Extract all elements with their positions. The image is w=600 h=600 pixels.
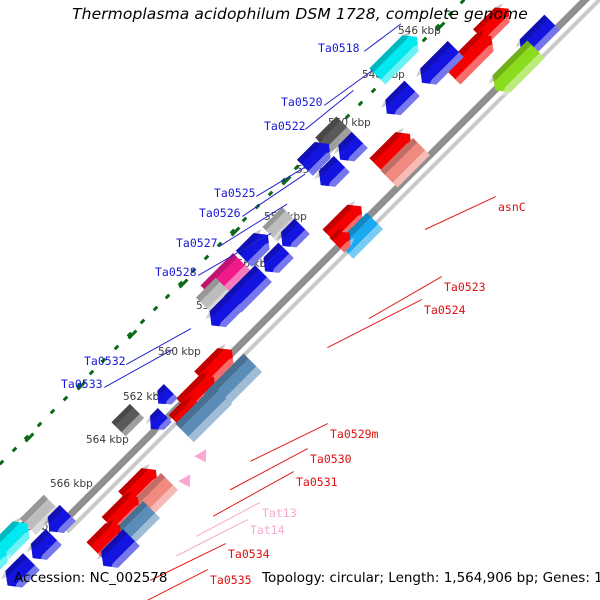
gene-label-ta0527[interactable]: Ta0527 bbox=[176, 236, 218, 250]
ruler-tick-dot bbox=[165, 293, 171, 299]
label-leader-line bbox=[327, 299, 422, 348]
gene-label-ta0531[interactable]: Ta0531 bbox=[296, 475, 338, 489]
gene-body bbox=[379, 80, 420, 121]
gene-label-asnc[interactable]: asnC bbox=[498, 200, 526, 214]
gene-label-ta0532[interactable]: Ta0532 bbox=[84, 354, 126, 368]
label-leader-line bbox=[425, 196, 496, 230]
gene-label-ta0518[interactable]: Ta0518 bbox=[318, 41, 360, 55]
label-leader-line bbox=[324, 70, 373, 106]
ruler-tick-dot bbox=[11, 447, 17, 453]
gene-label-ta0526[interactable]: Ta0526 bbox=[199, 206, 241, 220]
gene-label-ta0520[interactable]: Ta0520 bbox=[281, 95, 323, 109]
genome-map-viewer: 546 kbp548 kbp550 kbp552 kbp554 kbp556 k… bbox=[0, 0, 600, 600]
ruler-tick-dot bbox=[140, 319, 146, 325]
ruler-tick-label: 564 kbp bbox=[86, 434, 129, 446]
ruler-tick-dot bbox=[63, 396, 69, 402]
ruler-tick-dot bbox=[242, 216, 248, 222]
gene-label-ta0530[interactable]: Ta0530 bbox=[310, 452, 352, 466]
page-title: Thermoplasma acidophilum DSM 1728, compl… bbox=[0, 5, 600, 23]
ruler-tick-dot bbox=[50, 409, 56, 415]
gene-label-ta0528[interactable]: Ta0528 bbox=[155, 265, 197, 279]
label-leader-line bbox=[256, 159, 318, 197]
accession-label: Accession: NC_002578 bbox=[14, 570, 167, 586]
gene-label-ta0529m[interactable]: Ta0529m bbox=[330, 427, 378, 441]
topology-summary: Topology: circular; Length: 1,564,906 bp… bbox=[262, 570, 600, 586]
ruler-tick-dot bbox=[370, 88, 376, 94]
gene-label-ta0534[interactable]: Ta0534 bbox=[228, 547, 270, 561]
gene-glyph[interactable] bbox=[379, 80, 420, 121]
ruler-tick-dot bbox=[152, 306, 158, 312]
ruler-tick-dot bbox=[37, 421, 43, 427]
trna-marker[interactable] bbox=[178, 474, 196, 491]
ruler-tick-dot bbox=[0, 460, 4, 466]
ruler-tick-label: 566 kbp bbox=[50, 478, 93, 490]
ruler-tick-dot bbox=[114, 344, 120, 350]
gene-label-ta0525[interactable]: Ta0525 bbox=[214, 186, 256, 200]
gene-label-tat14[interactable]: Tat14 bbox=[250, 523, 285, 537]
gene-label-ta0524[interactable]: Ta0524 bbox=[424, 303, 466, 317]
ruler-tick-dot bbox=[88, 370, 94, 376]
gene-label-tat13[interactable]: Tat13 bbox=[262, 506, 297, 520]
gene-label-ta0523[interactable]: Ta0523 bbox=[444, 280, 486, 294]
gene-label-ta0533[interactable]: Ta0533 bbox=[61, 377, 103, 391]
ruler-tick-dot bbox=[357, 101, 363, 107]
gene-glyph[interactable] bbox=[111, 404, 144, 437]
gene-label-ta0535[interactable]: Ta0535 bbox=[210, 573, 252, 587]
ruler-tick-dot bbox=[204, 255, 210, 261]
gene-label-ta0522[interactable]: Ta0522 bbox=[264, 119, 306, 133]
trna-marker[interactable] bbox=[194, 449, 212, 466]
gene-body bbox=[111, 404, 144, 437]
ruler-tick-dot bbox=[460, 0, 466, 4]
